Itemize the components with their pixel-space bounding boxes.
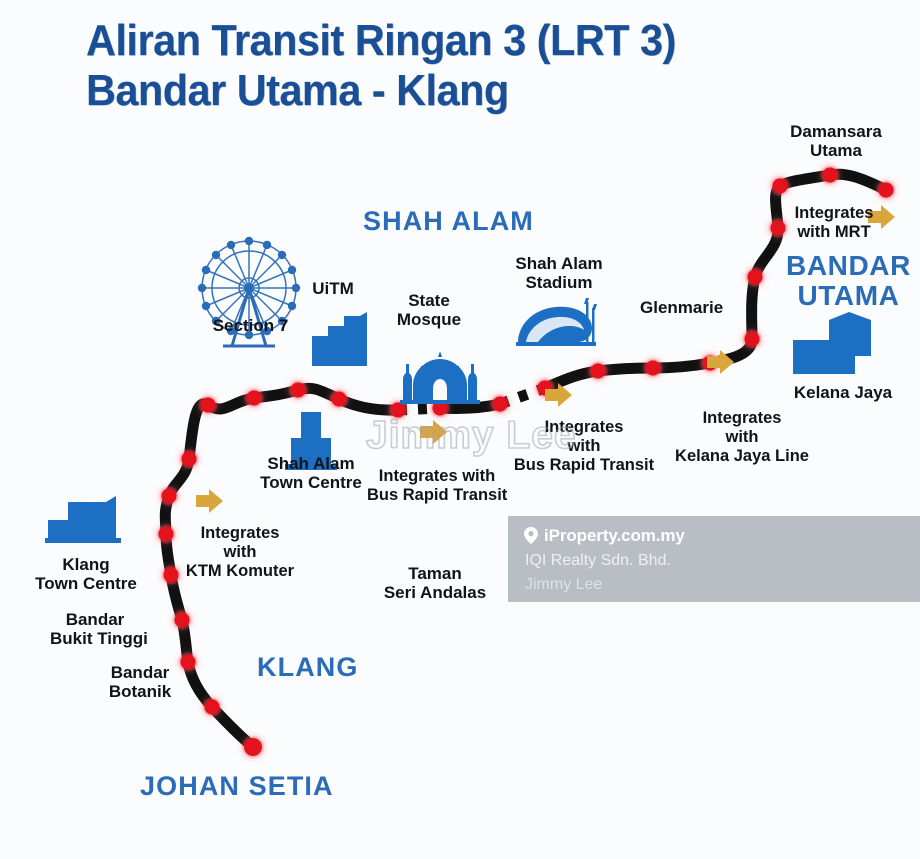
integration-label-line2: with — [513, 437, 655, 456]
poi-label-shah-alam-town-centre: Shah Alam Town Centre — [255, 454, 367, 492]
mosque-icon — [400, 351, 480, 404]
integration-label-line3: Bus Rapid Transit — [513, 456, 655, 475]
region-label-bandar-utama-line1: BANDAR — [786, 251, 911, 281]
poi-label-kelana-jaya: Kelana Jaya — [793, 383, 893, 402]
integration-label-line1: Integrates — [673, 409, 811, 428]
station-label-line1: Bandar — [50, 610, 140, 629]
station-dot[interactable] — [158, 526, 173, 541]
station-dot[interactable] — [161, 488, 176, 503]
poi-label-klang-town-centre: Klang Town Centre — [30, 555, 142, 593]
integration-label-line2: with MRT — [788, 223, 880, 242]
watermark-agency: IQI Realty Sdn. Bhd. — [525, 552, 671, 570]
poi-label-uitm: UiTM — [305, 279, 361, 298]
station-label-line1: Bandar — [100, 663, 180, 682]
poi-label-shah-alam-stadium: Shah Alam Stadium — [513, 254, 605, 292]
poi-label-line1: Klang — [30, 555, 142, 574]
station-dot[interactable] — [180, 654, 195, 669]
station-label-bandar-bukit-tinggi: Bandar Bukit Tinggi — [50, 610, 140, 648]
poi-label-line2: Town Centre — [255, 473, 367, 492]
station-dot[interactable] — [822, 167, 837, 182]
station-dot[interactable] — [770, 220, 785, 235]
integration-label-brt-west: Integrates with Bus Rapid Transit — [367, 467, 507, 505]
watermark-agent: Jimmy Lee — [525, 576, 602, 594]
station-dot[interactable] — [181, 451, 196, 466]
station-dot[interactable] — [290, 382, 305, 397]
station-dot[interactable] — [878, 182, 893, 197]
poi-label-state-mosque: State Mosque — [388, 291, 470, 329]
region-label-klang: KLANG — [257, 653, 359, 682]
station-dot[interactable] — [174, 612, 189, 627]
building-cluster-icon — [793, 312, 871, 374]
integration-label-line1: Integrates — [788, 204, 880, 223]
station-dot[interactable] — [744, 331, 759, 346]
integration-label-brt-east: Integrates with Bus Rapid Transit — [513, 418, 655, 475]
station-dot[interactable] — [163, 567, 178, 582]
poi-label-line2: Stadium — [513, 273, 605, 292]
region-label-shah-alam: SHAH ALAM — [363, 207, 534, 236]
station-label-bandar-botanik: Bandar Botanik — [100, 663, 180, 701]
integration-label-ktm-komuter: Integrates with KTM Komuter — [185, 524, 295, 581]
station-dot[interactable] — [204, 699, 219, 714]
location-pin-icon — [524, 527, 538, 544]
station-label-line1: Taman — [380, 564, 490, 583]
lrt3-route-map: Aliran Transit Ringan 3 (LRT 3) Bandar U… — [0, 0, 920, 859]
station-dot[interactable] — [492, 396, 507, 411]
poi-label-line1: Shah Alam — [255, 454, 367, 473]
station-label-line2: Botanik — [100, 682, 180, 701]
station-dot[interactable] — [747, 269, 762, 284]
integration-label-line1: Integrates — [513, 418, 655, 437]
integration-label-line2: Bus Rapid Transit — [367, 486, 507, 505]
station-label-line2: Seri Andalas — [380, 583, 490, 602]
station-label-line1: Damansara — [771, 122, 901, 141]
region-label-bandar-utama: BANDAR UTAMA — [786, 251, 911, 311]
integration-label-line2: with — [673, 428, 811, 447]
arrow-brt-west-icon — [420, 420, 447, 444]
arrow-ktm-komuter-icon — [196, 489, 223, 513]
integration-label-line3: KTM Komuter — [185, 562, 295, 581]
poi-label-line1: Shah Alam — [513, 254, 605, 273]
station-dot[interactable] — [246, 390, 261, 405]
stadium-icon — [516, 298, 597, 346]
poi-label-line2: Town Centre — [30, 574, 142, 593]
integration-label-line1: Integrates — [185, 524, 295, 543]
integration-label-kelana-jaya-line: Integrates with Kelana Jaya Line — [673, 409, 811, 466]
station-dot-terminus[interactable] — [244, 738, 262, 756]
poi-label-line1: State — [388, 291, 470, 310]
station-dot[interactable] — [590, 363, 605, 378]
station-label-line2: Bukit Tinggi — [50, 629, 140, 648]
poi-label-line2: Mosque — [388, 310, 470, 329]
integration-label-line1: Integrates with — [367, 467, 507, 486]
station-label-line2: Utama — [771, 141, 901, 160]
station-label-glenmarie: Glenmarie — [640, 298, 722, 317]
watermark-attribution-box: iProperty.com.my IQI Realty Sdn. Bhd. Ji… — [508, 516, 920, 602]
station-label-damansara-utama: Damansara Utama — [771, 122, 901, 160]
region-label-bandar-utama-line2: UTAMA — [786, 281, 911, 311]
station-dot[interactable] — [645, 360, 660, 375]
poi-label-section-7: Section 7 — [208, 316, 293, 335]
station-label-taman-seri-andalas: Taman Seri Andalas — [380, 564, 490, 602]
building-stepped-icon — [312, 312, 367, 366]
station-dot[interactable] — [331, 391, 346, 406]
station-dot[interactable] — [200, 397, 215, 412]
integration-label-mrt: Integrates with MRT — [788, 204, 880, 242]
integration-label-line3: Kelana Jaya Line — [673, 447, 811, 466]
station-dot[interactable] — [390, 402, 405, 417]
building-block-icon — [45, 496, 121, 543]
region-label-johan-setia: JOHAN SETIA — [140, 772, 334, 801]
integration-label-line2: with — [185, 543, 295, 562]
station-dot[interactable] — [772, 178, 787, 193]
watermark-brand: iProperty.com.my — [544, 526, 685, 546]
